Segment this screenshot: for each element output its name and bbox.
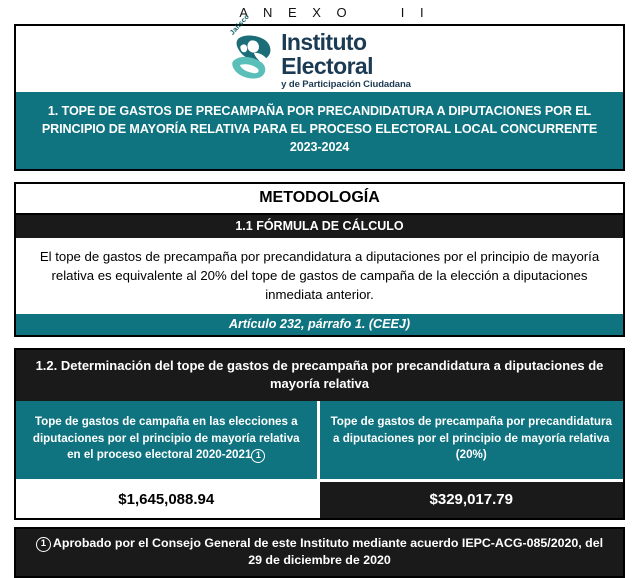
spacer-1 xyxy=(0,171,639,182)
table-header-row: Tope de gastos de campaña en las eleccio… xyxy=(16,401,623,479)
column-header-precampaign-cap: Tope de gastos de precampaña por precand… xyxy=(320,401,624,479)
logo-wordmark: Instituto Electoral y de Participación C… xyxy=(281,31,411,90)
column-left: Tope de gastos de campaña en las eleccio… xyxy=(16,401,320,479)
spacer-3 xyxy=(0,520,639,527)
anexo-document-page: A N E X O I I Jalisco Insti xyxy=(0,0,639,546)
subsection-1-1-heading: 1.1 FÓRMULA DE CÁLCULO xyxy=(16,215,623,238)
footnote-text: Aprobado por el Consejo General de este … xyxy=(53,536,603,567)
methodology-title: METODOLOGÍA xyxy=(16,184,623,215)
value-campaign-cap: $1,645,088.94 xyxy=(16,482,320,518)
logo-line-instituto: Instituto xyxy=(281,31,411,54)
footnote-text-container: 1Aprobado por el Consejo General de este… xyxy=(16,529,623,577)
logo-line-participacion: y de Participación Ciudadana xyxy=(281,80,411,90)
value-precampaign-cap: $329,017.79 xyxy=(320,482,624,518)
column-right: Tope de gastos de precampaña por precand… xyxy=(320,401,624,479)
anexo-header: A N E X O I I xyxy=(0,0,639,24)
determination-block: 1.2. Determinación del tope de gastos de… xyxy=(14,348,625,520)
table-value-row: $1,645,088.94 $329,017.79 xyxy=(16,479,623,518)
subsection-1-2-heading: 1.2. Determinación del tope de gastos de… xyxy=(16,350,623,401)
institute-logo: Jalisco Instituto Electoral y de Partici… xyxy=(228,31,411,90)
logo-container: Jalisco Instituto Electoral y de Partici… xyxy=(16,26,623,92)
legal-citation-bar: Artículo 232, párrafo 1. (CEEJ) xyxy=(16,314,623,335)
footnote-marker-icon: 1 xyxy=(36,537,51,552)
emblem-svg xyxy=(228,31,276,83)
formula-body-text: El tope de gastos de precampaña por prec… xyxy=(16,238,623,314)
column-header-campaign-cap: Tope de gastos de campaña en las eleccio… xyxy=(16,401,317,479)
logo-block: Jalisco Instituto Electoral y de Partici… xyxy=(14,24,625,171)
methodology-block: METODOLOGÍA 1.1 FÓRMULA DE CÁLCULO El to… xyxy=(14,182,625,337)
footnote-marker-superscript: 1 xyxy=(251,449,265,463)
footnote-block: 1Aprobado por el Consejo General de este… xyxy=(14,527,625,578)
spacer-2 xyxy=(0,337,639,348)
main-title-banner: 1. TOPE DE GASTOS DE PRECAMPAÑA POR PREC… xyxy=(16,92,623,169)
logo-line-electoral: Electoral xyxy=(281,55,411,78)
institute-emblem-icon: Jalisco xyxy=(228,31,276,83)
anexo-label: A N E X O I I xyxy=(239,5,429,20)
